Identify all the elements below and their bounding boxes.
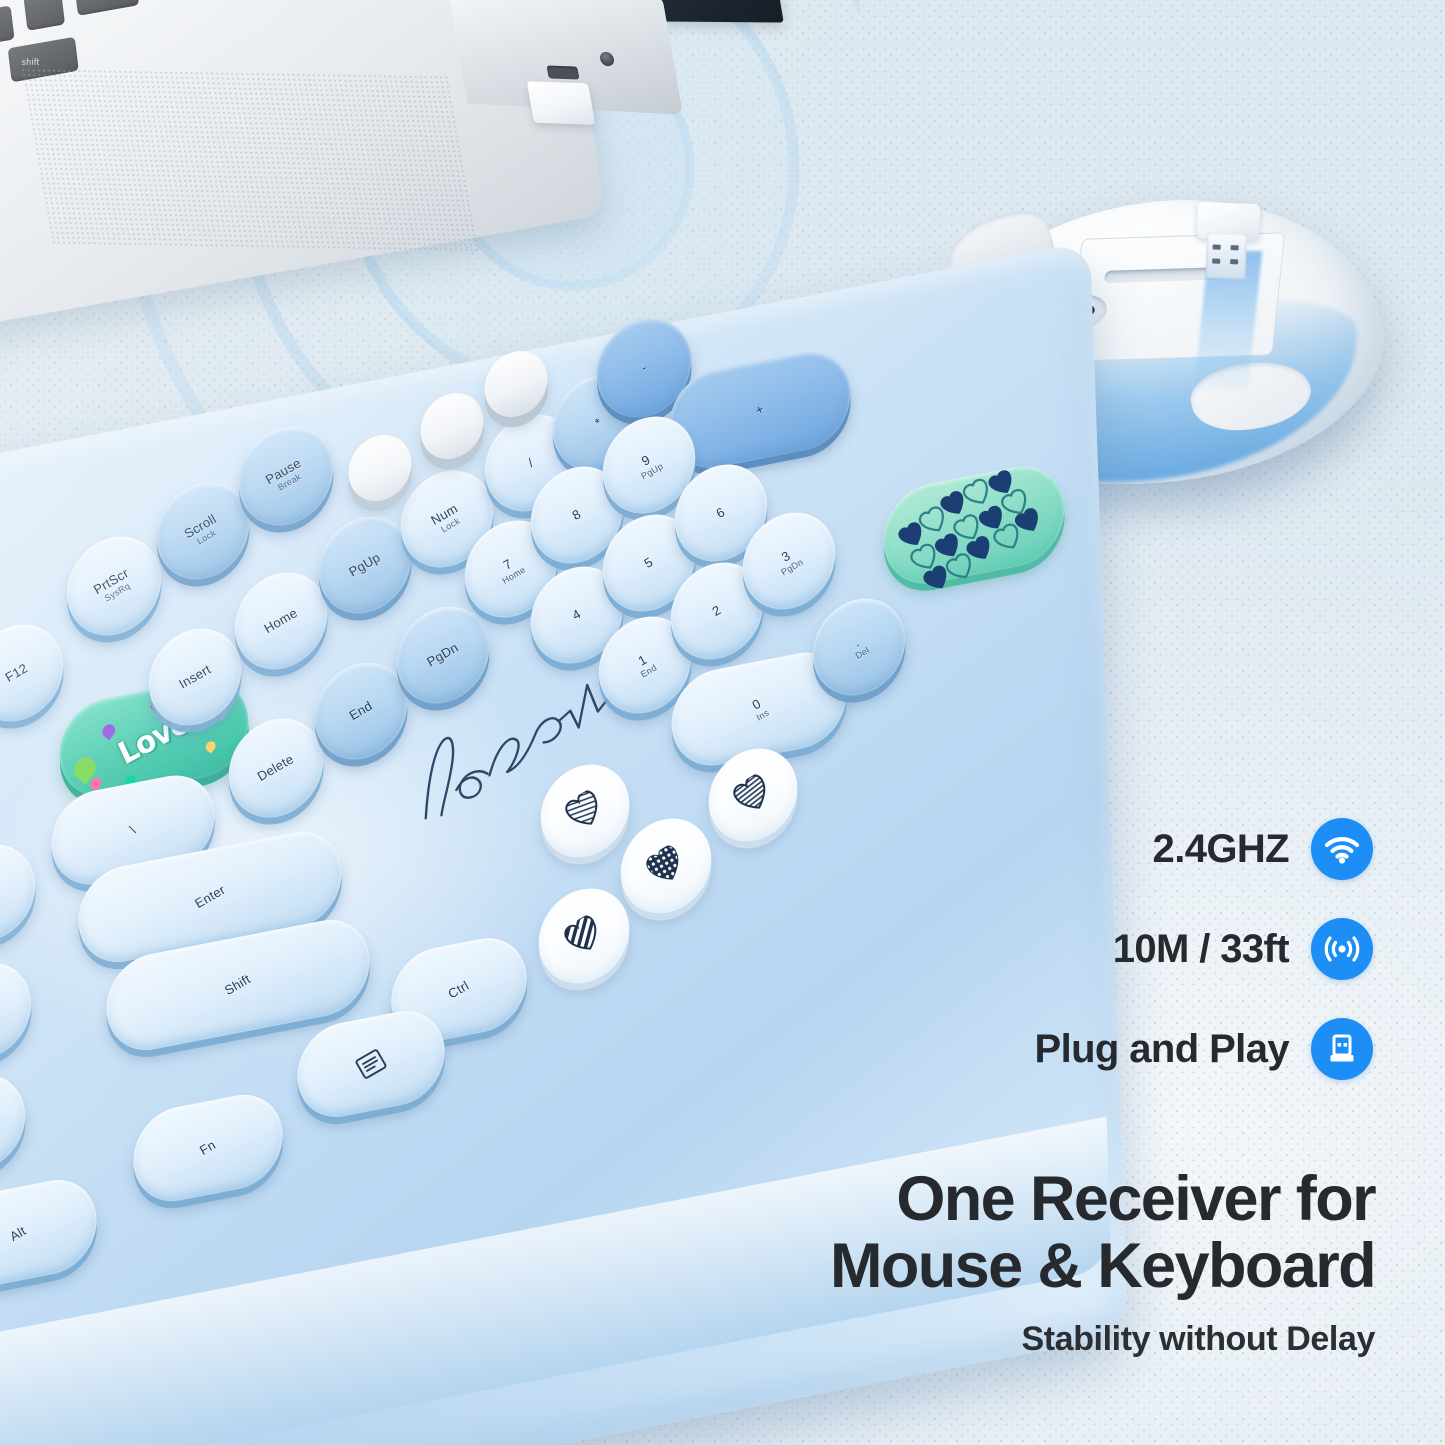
key-insert[interactable]: Insert bbox=[147, 620, 243, 733]
key-label: 7Home bbox=[494, 552, 528, 586]
key-label: 0Ins bbox=[747, 695, 771, 723]
badge-range: 10M / 33ft bbox=[983, 918, 1373, 980]
key-menu[interactable] bbox=[296, 1003, 446, 1125]
laptop-speaker-grille bbox=[20, 68, 479, 253]
usb-receiver-in-laptop bbox=[527, 81, 596, 125]
page-title: One Receiver for Mouse & Keyboard bbox=[675, 1168, 1375, 1298]
key-label: Insert bbox=[177, 662, 214, 691]
badge-label: 10M / 33ft bbox=[1113, 927, 1289, 972]
key-numpad-plus[interactable]: + bbox=[668, 344, 852, 476]
key-label: Shift bbox=[223, 972, 254, 998]
key-label: Enter bbox=[192, 883, 227, 911]
key-numpad-decimal[interactable]: .Del bbox=[811, 590, 907, 703]
key-pause-break[interactable]: PauseBreak bbox=[237, 418, 335, 533]
key-label: F12 bbox=[3, 661, 30, 685]
key-label: PauseBreak bbox=[263, 456, 309, 497]
headline-line-1: One Receiver for bbox=[896, 1164, 1375, 1234]
key-label: - bbox=[638, 361, 649, 375]
product-marketing-image: O P delete return shift F10 F11 F12 bbox=[0, 0, 1445, 1445]
key-label: 4 bbox=[570, 607, 584, 623]
key-label: Delete bbox=[255, 752, 296, 784]
key-arrow-down[interactable] bbox=[619, 811, 713, 922]
key-delete[interactable]: Delete bbox=[227, 710, 325, 825]
headline-line-2: Mouse & Keyboard bbox=[675, 1235, 1375, 1298]
key-label: Alt bbox=[8, 1224, 29, 1244]
key-numpad-enter[interactable] bbox=[882, 458, 1066, 592]
key-numpad-3[interactable]: 3PgDn bbox=[741, 504, 837, 617]
key-scroll-lock[interactable]: ScrollLock bbox=[155, 474, 251, 587]
heart-diagonal-stripe-icon bbox=[559, 912, 609, 960]
receiver-metal-connector bbox=[1206, 232, 1248, 279]
key-label: 2 bbox=[710, 603, 724, 619]
headline-subtitle: Stability without Delay bbox=[675, 1320, 1375, 1359]
key-label: ScrollLock bbox=[182, 512, 224, 551]
laptop-usb-port bbox=[547, 66, 580, 80]
key-pgup[interactable]: PgUp bbox=[317, 508, 413, 621]
menu-icon bbox=[354, 1048, 388, 1080]
key-label: 3PgDn bbox=[773, 544, 806, 577]
key-question-slash[interactable]: ?/ bbox=[0, 1066, 27, 1179]
badge-label: 2.4GHZ bbox=[1153, 827, 1289, 872]
key-label: End bbox=[347, 699, 375, 723]
key-label: Fn bbox=[198, 1138, 219, 1158]
key-label: PgDn bbox=[425, 640, 461, 669]
heart-pattern bbox=[879, 445, 1069, 604]
key-bracket-right[interactable]: }] bbox=[0, 836, 37, 949]
key-label: 1End bbox=[631, 650, 658, 680]
key-arrow-left[interactable] bbox=[537, 881, 631, 992]
key-knob-b[interactable] bbox=[419, 388, 484, 465]
key-alt[interactable]: Alt bbox=[0, 1172, 98, 1296]
key-label: + bbox=[753, 402, 767, 418]
key-label: 9PgUp bbox=[633, 448, 666, 481]
key-label: 5 bbox=[642, 555, 656, 571]
key-label: PgUp bbox=[347, 550, 383, 579]
key-label: / bbox=[526, 456, 536, 470]
key-end[interactable]: End bbox=[313, 654, 409, 767]
signal-range-icon bbox=[1311, 918, 1373, 980]
key-label: .Del bbox=[847, 633, 872, 662]
headline-block: One Receiver for Mouse & Keyboard Stabil… bbox=[675, 1168, 1375, 1359]
wifi-icon bbox=[1311, 818, 1373, 880]
key-home[interactable]: Home bbox=[233, 564, 329, 677]
key-knob-c[interactable] bbox=[483, 346, 548, 423]
key-f12[interactable]: F12 bbox=[0, 616, 65, 729]
key-label: Ctrl bbox=[446, 979, 472, 1002]
key-label: PrtScrSysRq bbox=[91, 566, 136, 606]
key-label: 6 bbox=[714, 505, 728, 521]
key-prtscr-sysrq[interactable]: PrtScrSysRq bbox=[65, 528, 163, 643]
heart-lined-icon bbox=[728, 771, 778, 819]
key-arrow-right[interactable] bbox=[707, 741, 799, 849]
usb-receiver-icon bbox=[1311, 1018, 1373, 1080]
feature-badges: 2.4GHZ 10M / 33ft bbox=[983, 818, 1373, 1118]
key-label: NumLock bbox=[429, 501, 466, 537]
heart-dotted-icon bbox=[641, 842, 691, 890]
heart-striped-icon bbox=[560, 787, 610, 835]
key-label: Home bbox=[262, 606, 300, 636]
badge-2-4ghz: 2.4GHZ bbox=[983, 818, 1373, 880]
key-fn[interactable]: Fn bbox=[132, 1087, 284, 1209]
key-arrow-up[interactable] bbox=[539, 757, 631, 865]
badge-plug-and-play: Plug and Play bbox=[983, 1018, 1373, 1080]
key-label: \ bbox=[128, 823, 138, 837]
badge-label: Plug and Play bbox=[1035, 1027, 1290, 1072]
key-quote[interactable]: "' bbox=[0, 954, 33, 1067]
usb-receiver-dongle bbox=[1196, 202, 1260, 274]
key-knob-a[interactable] bbox=[347, 430, 412, 507]
key-label: 8 bbox=[570, 507, 584, 523]
